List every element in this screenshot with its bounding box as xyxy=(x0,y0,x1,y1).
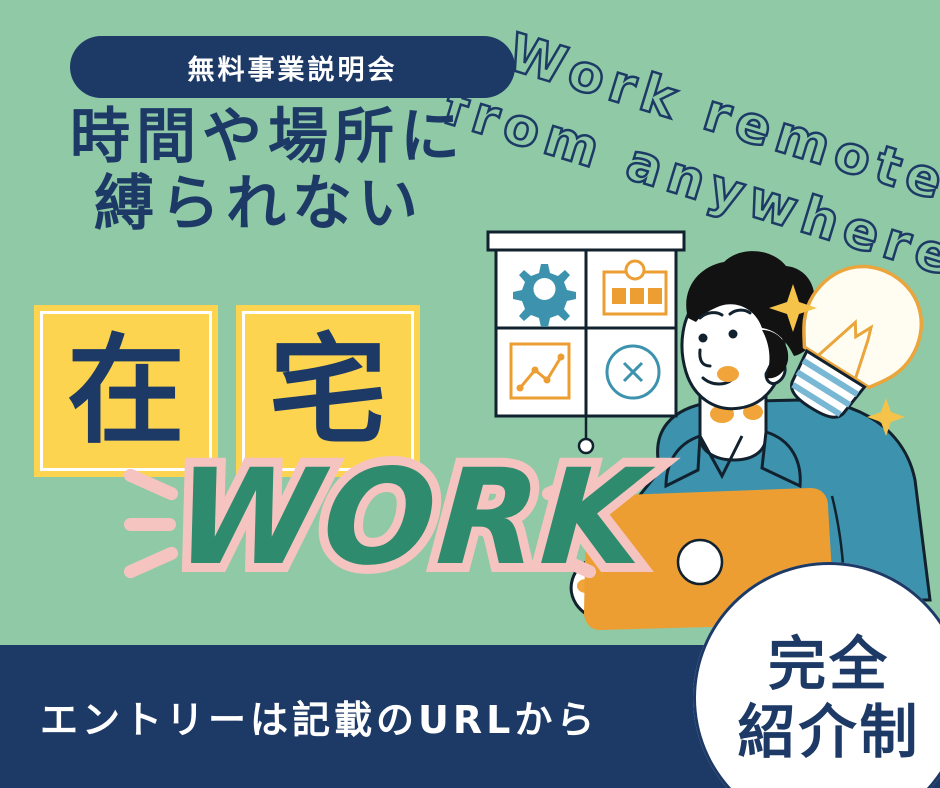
free-seminar-badge: 無料事業説明会 xyxy=(70,36,515,98)
sparkle-icon xyxy=(769,284,817,332)
seal-line-2: 紹介制 xyxy=(737,698,920,766)
kanji-box-char: 在 xyxy=(67,332,185,450)
ray-dash xyxy=(122,467,180,502)
ray-dash xyxy=(124,518,176,531)
poster-canvas: 無料事業説明会 時間や場所に 縛られない Work remotely from … xyxy=(0,0,940,788)
seal-line-1: 完全 xyxy=(768,630,890,698)
line-chart-icon xyxy=(511,344,569,398)
footer-cta-text: エントリーは記載のURLから xyxy=(40,689,598,744)
x-circle-icon xyxy=(607,346,659,398)
bar-chart-icon xyxy=(604,261,666,314)
badge-label: 無料事業説明会 xyxy=(188,48,398,87)
gear-icon xyxy=(513,264,576,327)
whiteboard-illustration xyxy=(488,232,684,453)
sparkle-icon xyxy=(867,398,905,436)
kanji-box-char: 宅 xyxy=(269,332,387,450)
work-wordmark: WORK xyxy=(171,452,650,584)
english-tagline: Work remotely from anywhere xyxy=(479,18,940,290)
referral-only-seal: 完全 紹介制 xyxy=(693,562,940,788)
headline-line-2: 縛られない xyxy=(94,171,590,238)
